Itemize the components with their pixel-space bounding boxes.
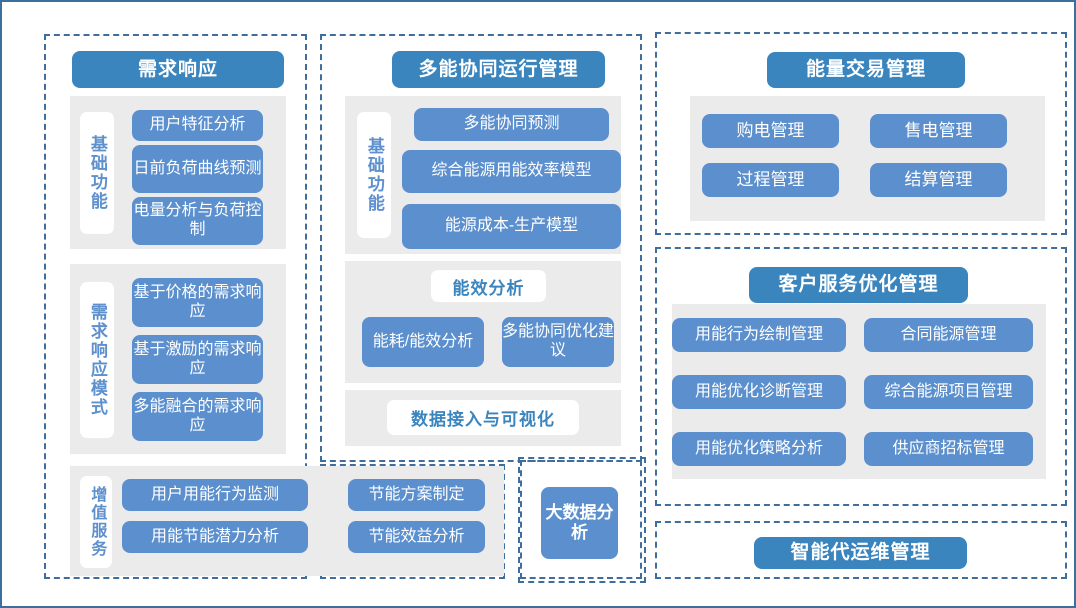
vertical-label-multi-energy-basic: 基础功能 <box>357 112 391 238</box>
header-customer-service[interactable]: 客户服务优化管理 <box>749 267 968 303</box>
item-energy-saving-potential-analysis[interactable]: 用能节能潜力分析 <box>122 521 308 553</box>
item-energy-behavior-mapping-management[interactable]: 用能行为绘制管理 <box>672 318 846 352</box>
item-settlement-management[interactable]: 结算管理 <box>870 163 1007 197</box>
item-energy-saving-plan-formulation[interactable]: 节能方案制定 <box>348 479 485 511</box>
header-multi-energy-operation[interactable]: 多能协同运行管理 <box>392 51 605 88</box>
item-energy-optimization-diagnosis-management[interactable]: 用能优化诊断管理 <box>672 375 846 409</box>
item-integrated-energy-project-management[interactable]: 综合能源项目管理 <box>864 375 1033 409</box>
item-supplier-bidding-management[interactable]: 供应商招标管理 <box>864 432 1033 466</box>
item-day-ahead-load-curve-forecast[interactable]: 日前负荷曲线预测 <box>132 145 263 193</box>
item-energy-optimization-strategy-analysis[interactable]: 用能优化策略分析 <box>672 432 846 466</box>
item-power-analysis-load-control[interactable]: 电量分析与负荷控制 <box>132 197 263 245</box>
item-energy-cost-production-model[interactable]: 能源成本-生产模型 <box>402 204 621 249</box>
item-integrated-energy-efficiency-model[interactable]: 综合能源用能效率模型 <box>402 150 621 193</box>
item-multi-energy-fusion-demand-response[interactable]: 多能融合的需求响应 <box>132 392 263 441</box>
item-user-energy-behavior-monitoring[interactable]: 用户用能行为监测 <box>122 479 308 511</box>
vertical-label-demand-response-modes: 需求响应模式 <box>80 282 114 438</box>
subtitle-energy-efficiency-analysis: 能效分析 <box>431 270 546 302</box>
header-demand-response[interactable]: 需求响应 <box>72 51 284 88</box>
item-contract-energy-management[interactable]: 合同能源管理 <box>864 318 1033 352</box>
subtitle-data-access-visualization: 数据接入与可视化 <box>387 400 579 435</box>
item-energy-saving-benefit-analysis[interactable]: 节能效益分析 <box>348 521 485 553</box>
item-multi-energy-optimization-suggestion[interactable]: 多能协同优化建议 <box>502 317 614 367</box>
item-energy-consumption-efficiency-analysis[interactable]: 能耗/能效分析 <box>362 317 484 367</box>
item-price-based-demand-response[interactable]: 基于价格的需求响应 <box>132 278 263 327</box>
header-energy-trading[interactable]: 能量交易管理 <box>767 52 965 88</box>
vertical-label-basic-functions: 基础功能 <box>80 112 114 234</box>
header-smart-om[interactable]: 智能代运维管理 <box>754 537 967 569</box>
item-user-characteristics-analysis[interactable]: 用户特征分析 <box>132 110 263 141</box>
item-big-data-analysis[interactable]: 大数据分析 <box>541 487 618 559</box>
architecture-diagram: 需求响应 基础功能 用户特征分析 日前负荷曲线预测 电量分析与负荷控制 需求响应… <box>0 0 1076 608</box>
item-power-sales-management[interactable]: 售电管理 <box>870 114 1007 148</box>
item-multi-energy-collaborative-forecast[interactable]: 多能协同预测 <box>414 108 609 141</box>
item-power-purchase-management[interactable]: 购电管理 <box>702 114 839 148</box>
vertical-label-value-added-services: 增值服务 <box>80 476 112 568</box>
item-incentive-based-demand-response[interactable]: 基于激励的需求响应 <box>132 335 263 384</box>
item-process-management[interactable]: 过程管理 <box>702 163 839 197</box>
